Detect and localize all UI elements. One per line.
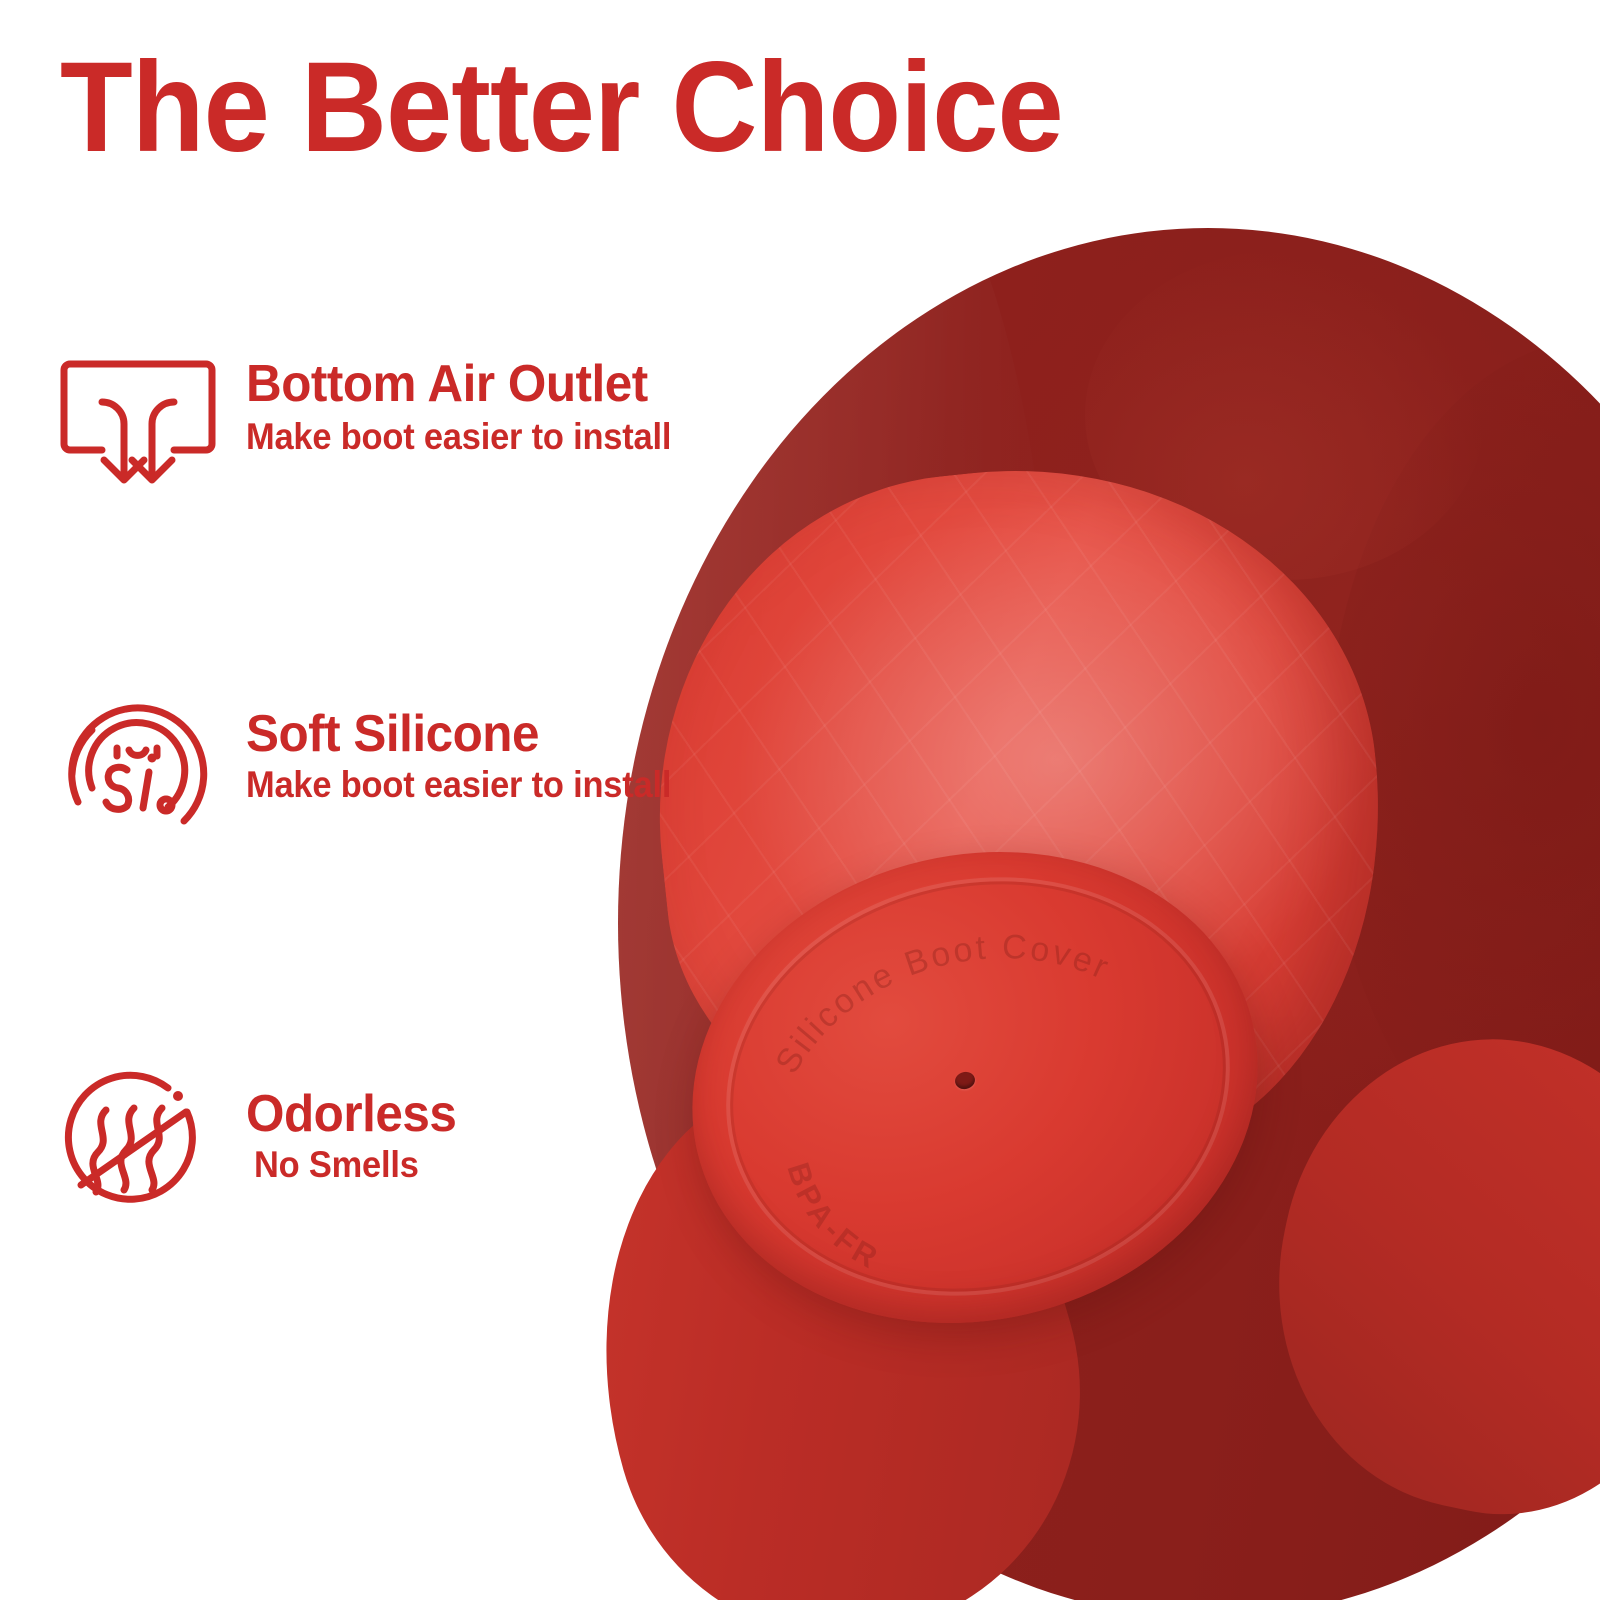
base-rim-groove [684, 828, 1272, 1345]
feature-subtitle: Make boot easier to install [246, 417, 671, 458]
feature-text-block: Soft Silicone Make boot easier to instal… [246, 690, 703, 806]
air-vent-hole [953, 1070, 976, 1091]
bottom-air-outlet-icon [58, 352, 218, 512]
feature-text-block: Odorless No Smells [246, 1060, 467, 1186]
product-right-lobe [1236, 1001, 1600, 1548]
product-left-lobe [532, 1021, 1138, 1600]
soft-silicone-icon [58, 690, 218, 850]
product-rear-lobe [1085, 250, 1485, 580]
feature-item-bottom-air-outlet: Bottom Air Outlet Make boot easier to in… [58, 352, 703, 512]
emboss-bpa-free: BPA-FREE [627, 861, 893, 1311]
silicone-facet-texture [625, 434, 1414, 1205]
background-disc-shading [618, 228, 1600, 1600]
silicone-boot-cover-base [645, 797, 1305, 1378]
background-disc [618, 228, 1600, 1600]
emboss-product-name-path: Silicone Boot Cover [750, 898, 1129, 1086]
emboss-product-name: Silicone Boot Cover [750, 898, 1129, 1086]
feature-title: Odorless [246, 1088, 456, 1141]
infographic-canvas: Silicone Boot Cover BPA-FREE The Better … [0, 0, 1600, 1600]
page-title: The Better Choice [60, 44, 1063, 172]
feature-text-block: Bottom Air Outlet Make boot easier to in… [246, 352, 703, 458]
silicone-boot-cover-body [625, 434, 1414, 1205]
feature-title: Soft Silicone [246, 708, 680, 761]
odorless-icon [58, 1060, 218, 1220]
feature-subtitle: Make boot easier to install [246, 765, 671, 806]
feature-subtitle: No Smells [254, 1145, 452, 1186]
emboss-bpa-free-path: BPA-FREE [627, 861, 893, 1311]
feature-item-odorless: Odorless No Smells [58, 1060, 467, 1220]
feature-item-soft-silicone: Soft Silicone Make boot easier to instal… [58, 690, 703, 850]
feature-title: Bottom Air Outlet [246, 358, 680, 411]
embossed-text-group: Silicone Boot Cover BPA-FREE [645, 797, 1305, 1378]
